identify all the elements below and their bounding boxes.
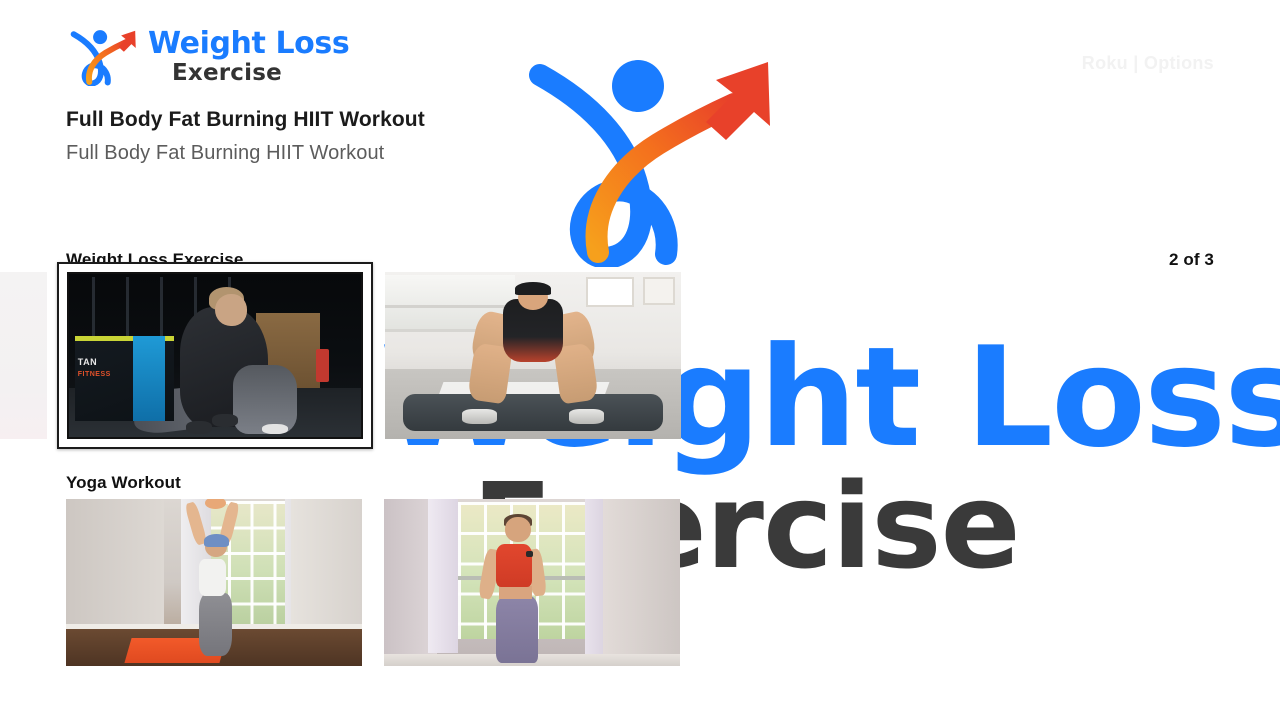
tile-selection-frame: TAN FITNESS bbox=[67, 272, 363, 439]
tile-partial-left[interactable] bbox=[0, 272, 47, 439]
thumbnail-art-yoga-standing bbox=[384, 499, 680, 666]
brand-logo: Weight Loss Exercise bbox=[66, 28, 355, 86]
content-description: Full Body Fat Burning HIIT Workout bbox=[66, 140, 425, 167]
row-tile-strip[interactable]: TAN FITNESS bbox=[0, 272, 703, 449]
brand-line-exercise: Exercise bbox=[172, 62, 349, 85]
tile-thumbnail bbox=[385, 272, 681, 439]
tile-hiit-squat[interactable] bbox=[385, 272, 681, 439]
splash-logo-icon bbox=[520, 52, 770, 267]
thumbnail-art-yoga-stretch bbox=[66, 499, 362, 666]
content-meta: Full Body Fat Burning HIIT Workout Full … bbox=[66, 106, 435, 167]
tile-gym-lunge[interactable]: TAN FITNESS bbox=[57, 262, 373, 449]
row-pagination-count: 2 of 3 bbox=[1161, 250, 1214, 270]
row-header: Yoga Workout bbox=[66, 473, 1214, 493]
brand-wordmark: Weight Loss Exercise bbox=[148, 29, 349, 85]
tile-thumbnail bbox=[0, 272, 47, 439]
row-title: Yoga Workout bbox=[66, 473, 189, 493]
app-root: Weight Loss Exercise bbox=[0, 0, 1280, 720]
row-tile-strip[interactable] bbox=[66, 499, 702, 666]
content-title: Full Body Fat Burning HIIT Workout bbox=[66, 106, 425, 134]
tile-thumbnail bbox=[384, 499, 680, 666]
thumbnail-art-hiit-squat bbox=[385, 272, 681, 439]
tile-thumbnail bbox=[66, 499, 362, 666]
tile-yoga-stretch[interactable] bbox=[66, 499, 362, 666]
thumbnail-art-gym-lunge: TAN FITNESS bbox=[69, 274, 361, 437]
tile-thumbnail: TAN FITNESS bbox=[69, 274, 361, 437]
tile-yoga-standing[interactable] bbox=[384, 499, 680, 666]
running-figure-arrow-logo-icon bbox=[66, 28, 138, 86]
roku-options-label[interactable]: Roku | Options bbox=[1082, 53, 1214, 74]
brand-line-weight-loss: Weight Loss bbox=[148, 29, 349, 59]
